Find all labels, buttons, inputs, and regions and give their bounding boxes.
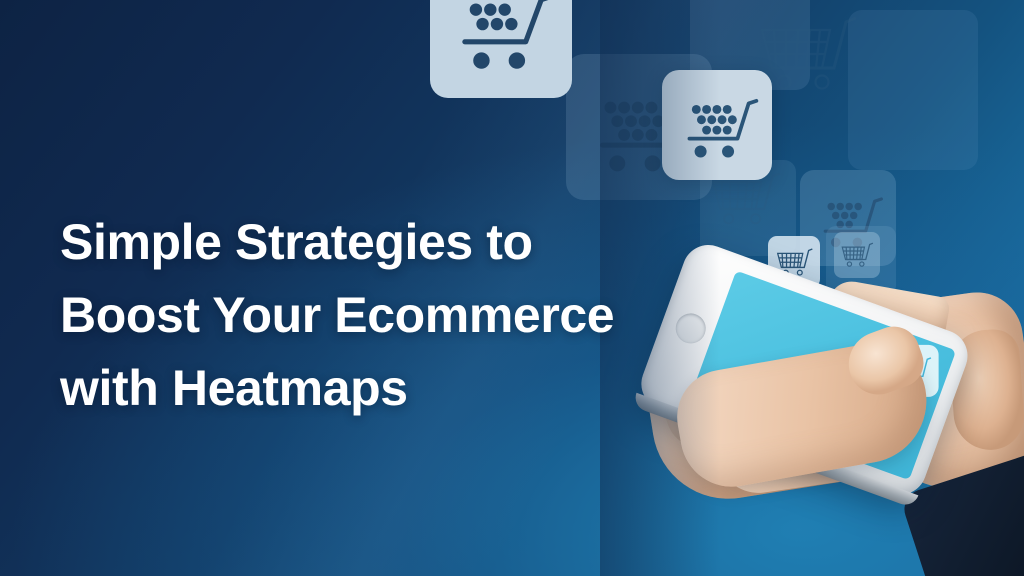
promo-banner: Simple Strategies to Boost Your Ecommerc… [0, 0, 1024, 576]
page-title: Simple Strategies to Boost Your Ecommerc… [60, 206, 680, 425]
headline-line-2: Boost Your Ecommerce [60, 279, 680, 352]
headline-line-1: Simple Strategies to [60, 206, 680, 279]
headline-line-3: with Heatmaps [60, 352, 680, 425]
